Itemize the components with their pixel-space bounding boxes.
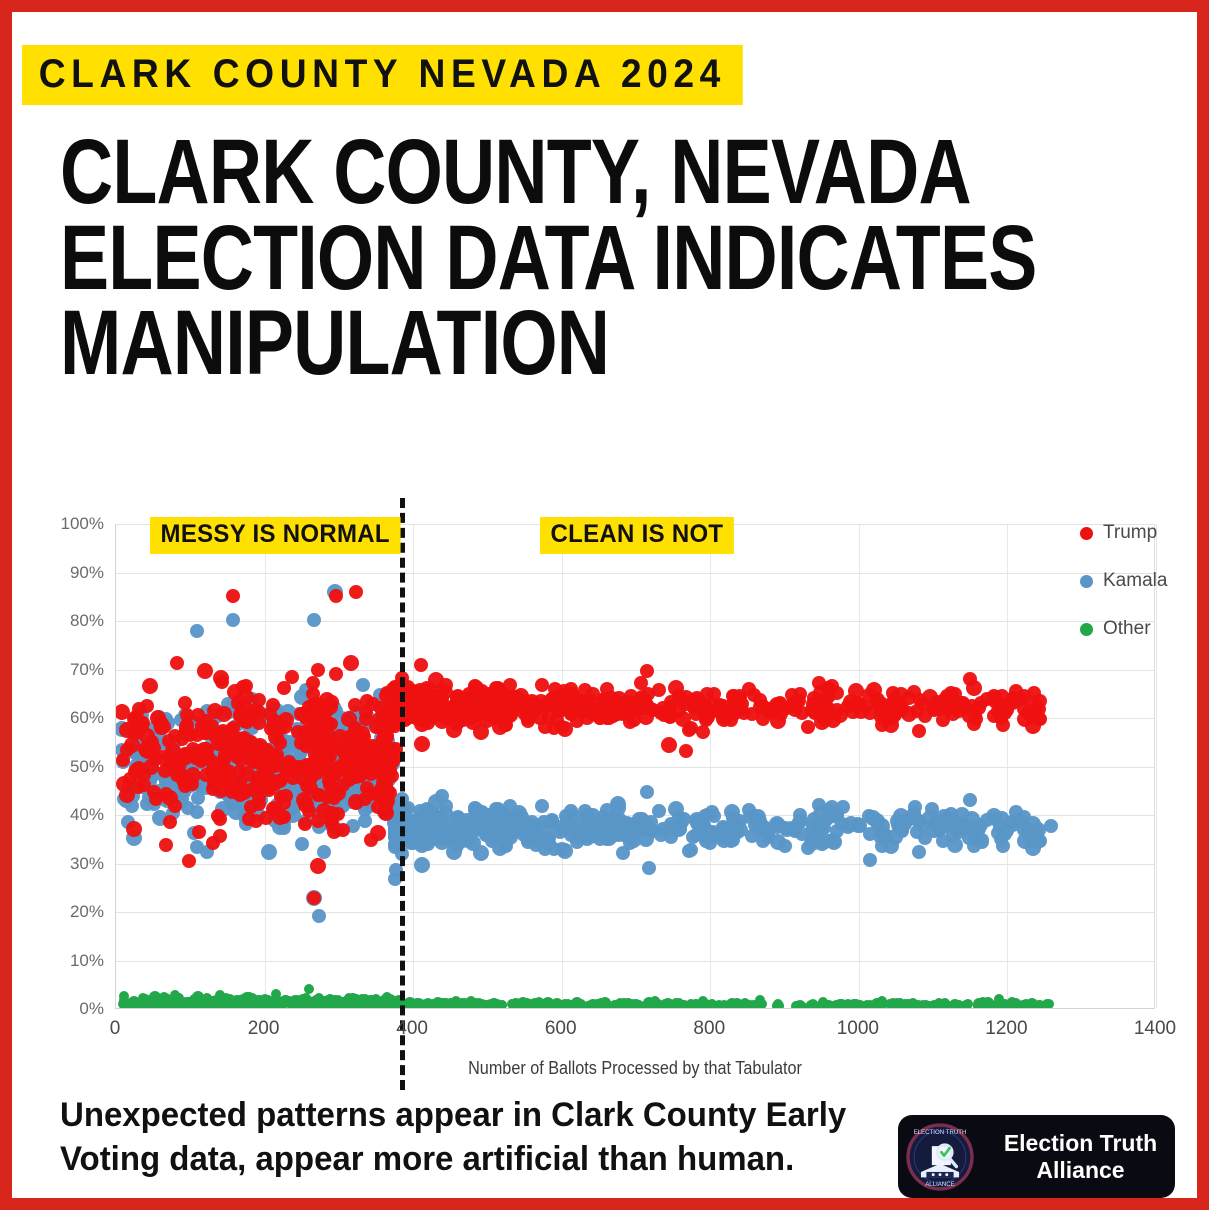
- data-point: [327, 825, 341, 839]
- annotation-messy-is-normal: MESSY IS NORMAL: [150, 517, 400, 554]
- data-point: [460, 691, 474, 705]
- y-axis-tick-50: 50%: [70, 757, 104, 777]
- data-point: [564, 682, 578, 696]
- data-point: [462, 834, 476, 848]
- data-point: [218, 748, 232, 762]
- data-point: [488, 711, 502, 725]
- data-point: [1044, 999, 1054, 1008]
- data-point: [142, 678, 158, 694]
- data-point: [690, 999, 702, 1008]
- data-point: [307, 998, 319, 1008]
- data-point: [871, 998, 883, 1008]
- data-point: [206, 836, 220, 850]
- data-point: [334, 996, 344, 1006]
- data-point: [277, 810, 291, 824]
- data-point: [1035, 1000, 1045, 1008]
- x-axis-title: Number of Ballots Processed by that Tabu…: [167, 1058, 1103, 1079]
- data-point: [154, 998, 164, 1008]
- x-axis-tick-1400: 1400: [1134, 1018, 1176, 1040]
- data-point: [360, 694, 374, 708]
- data-point: [663, 1000, 673, 1008]
- headline-line-2: ELECTION DATA INDICATES: [60, 216, 948, 302]
- data-point: [129, 726, 143, 740]
- data-point: [325, 760, 339, 774]
- data-point: [911, 814, 925, 828]
- data-point: [974, 696, 988, 710]
- data-point: [179, 748, 193, 762]
- plot-area: [115, 524, 1155, 1009]
- y-axis-tick-70: 70%: [70, 660, 104, 680]
- data-point: [424, 829, 440, 845]
- data-point: [988, 691, 1002, 705]
- data-point: [642, 861, 656, 875]
- data-point: [946, 707, 960, 721]
- data-point: [298, 817, 312, 831]
- data-point: [535, 799, 549, 813]
- data-point: [535, 678, 549, 692]
- data-point: [312, 788, 326, 802]
- data-point: [1044, 819, 1058, 833]
- x-axis-tick-600: 600: [545, 1018, 577, 1040]
- data-point: [835, 817, 849, 831]
- data-point: [826, 834, 842, 850]
- data-point: [520, 709, 536, 725]
- data-point: [883, 717, 899, 733]
- data-point: [686, 830, 700, 844]
- y-axis-tick-0: 0%: [79, 999, 104, 1019]
- data-point: [616, 846, 630, 860]
- data-point: [947, 837, 963, 853]
- data-point: [348, 721, 362, 735]
- y-axis-tick-100: 100%: [61, 514, 104, 534]
- data-point: [996, 718, 1010, 732]
- scatter-chart: 0%10%20%30%40%50%60%70%80%90%100% MESSY …: [12, 490, 1197, 1100]
- y-axis-tick-80: 80%: [70, 611, 104, 631]
- data-point: [936, 999, 948, 1008]
- data-point: [661, 737, 677, 753]
- data-point: [307, 891, 321, 905]
- legend-label: Kamala: [1103, 570, 1167, 592]
- data-point: [563, 699, 579, 715]
- data-point: [747, 688, 761, 702]
- data-point: [147, 785, 161, 799]
- data-point: [259, 996, 269, 1006]
- data-point: [235, 733, 251, 749]
- data-point: [1005, 694, 1019, 708]
- data-point: [126, 821, 142, 837]
- chart-legend: TrumpKamalaOther: [1080, 522, 1167, 666]
- data-point: [315, 750, 329, 764]
- data-point: [356, 678, 370, 692]
- data-point: [128, 1003, 138, 1008]
- data-point: [233, 708, 247, 722]
- data-point: [552, 1000, 562, 1008]
- data-point: [564, 804, 578, 818]
- data-point: [530, 1001, 540, 1008]
- data-point: [704, 1000, 716, 1008]
- legend-swatch-other-icon: [1080, 623, 1093, 636]
- data-point: [627, 713, 641, 727]
- data-point: [319, 692, 335, 708]
- data-point: [806, 1000, 816, 1008]
- data-point: [474, 998, 484, 1008]
- headline-line-3: MANIPULATION: [60, 301, 948, 387]
- data-point: [682, 844, 696, 858]
- data-point: [211, 995, 221, 1005]
- x-axis-tick-800: 800: [693, 1018, 725, 1040]
- data-point: [890, 1001, 900, 1008]
- data-point: [646, 703, 660, 717]
- data-point: [871, 697, 885, 711]
- legend-item-other[interactable]: Other: [1080, 618, 1167, 640]
- data-point: [285, 670, 299, 684]
- data-point: [778, 839, 792, 853]
- caption: Unexpected patterns appear in Clark Coun…: [60, 1094, 855, 1181]
- data-point: [215, 675, 229, 689]
- data-point: [682, 723, 696, 737]
- y-axis-tick-20: 20%: [70, 902, 104, 922]
- data-point: [312, 909, 326, 923]
- data-point: [197, 663, 213, 679]
- data-point: [190, 624, 204, 638]
- data-point: [634, 676, 648, 690]
- data-point: [473, 724, 489, 740]
- x-axis-tick-1000: 1000: [837, 1018, 879, 1040]
- data-point: [562, 819, 578, 835]
- logo-text-line-2: Alliance: [986, 1157, 1175, 1183]
- data-point: [132, 702, 146, 716]
- data-point: [390, 1000, 400, 1008]
- caption-line-1: Unexpected patterns appear in Clark Coun…: [60, 1094, 855, 1138]
- data-point: [445, 1001, 455, 1008]
- data-point: [891, 696, 907, 712]
- election-truth-alliance-emblem-icon: ELECTION TRUTH ALLIANCE: [906, 1123, 974, 1191]
- data-point: [159, 838, 173, 852]
- x-axis-tick-400: 400: [396, 1018, 428, 1040]
- data-point: [304, 984, 314, 994]
- data-point: [163, 815, 177, 829]
- data-point: [936, 809, 952, 825]
- data-point: [432, 997, 444, 1008]
- page-title: CLARK COUNTY, NEVADA ELECTION DATA INDIC…: [60, 130, 948, 387]
- data-point: [439, 685, 453, 699]
- data-point: [834, 1000, 844, 1008]
- data-point: [898, 817, 912, 831]
- y-axis-tick-60: 60%: [70, 708, 104, 728]
- data-point: [473, 845, 489, 861]
- x-axis-tick-1200: 1200: [985, 1018, 1027, 1040]
- data-point: [630, 1000, 640, 1008]
- data-point: [772, 1000, 784, 1008]
- data-point: [843, 694, 859, 710]
- data-point: [306, 676, 320, 690]
- logo-text: Election Truth Alliance: [986, 1130, 1175, 1183]
- data-point: [609, 813, 623, 827]
- data-point: [697, 706, 711, 720]
- data-point: [912, 724, 926, 738]
- data-point: [192, 825, 206, 839]
- legend-swatch-kamala-icon: [1080, 575, 1093, 588]
- headline-line-1: CLARK COUNTY, NEVADA: [60, 130, 948, 216]
- data-point: [358, 792, 372, 806]
- data-point: [974, 1000, 986, 1008]
- data-point: [291, 725, 305, 739]
- y-axis-tick-90: 90%: [70, 563, 104, 583]
- data-point: [286, 999, 296, 1008]
- data-point: [170, 656, 184, 670]
- data-point: [1033, 712, 1047, 726]
- data-point: [182, 997, 194, 1008]
- data-point: [414, 857, 430, 873]
- data-point: [232, 999, 242, 1008]
- data-point: [850, 999, 862, 1008]
- data-point: [170, 996, 182, 1008]
- data-point: [668, 680, 684, 696]
- data-point: [414, 658, 428, 672]
- data-point: [707, 687, 721, 701]
- data-point: [904, 999, 916, 1008]
- data-points-layer: [116, 524, 1155, 1008]
- data-point: [352, 758, 366, 772]
- data-point: [726, 833, 740, 847]
- data-point: [213, 812, 227, 826]
- data-point: [182, 854, 196, 868]
- data-point: [295, 837, 309, 851]
- data-point: [679, 744, 693, 758]
- data-point: [329, 589, 343, 603]
- poster-frame: CLARK COUNTY NEVADA 2024 CLARK COUNTY, N…: [12, 12, 1197, 1198]
- data-point: [964, 811, 980, 827]
- data-point: [952, 1002, 962, 1008]
- data-point: [497, 1000, 507, 1008]
- data-point: [439, 711, 453, 725]
- data-point: [652, 683, 666, 697]
- data-point: [991, 1000, 1001, 1008]
- y-axis-tick-40: 40%: [70, 805, 104, 825]
- data-point: [537, 815, 551, 829]
- data-point: [458, 1001, 468, 1008]
- legend-swatch-trump-icon: [1080, 527, 1093, 540]
- data-point: [249, 814, 263, 828]
- data-point: [485, 834, 499, 848]
- legend-item-kamala[interactable]: Kamala: [1080, 570, 1167, 592]
- x-axis-tick-0: 0: [110, 1018, 121, 1040]
- caption-line-2: Voting data, appear more artificial than…: [60, 1138, 855, 1182]
- data-point: [908, 800, 922, 814]
- data-point: [887, 829, 903, 845]
- annotation-clean-is-not: CLEAN IS NOT: [540, 517, 734, 554]
- kicker-banner: CLARK COUNTY NEVADA 2024: [22, 45, 743, 105]
- data-point: [770, 713, 786, 729]
- logo-badge[interactable]: ELECTION TRUTH ALLIANCE Election Truth A…: [898, 1115, 1175, 1198]
- data-point: [996, 839, 1010, 853]
- data-point: [268, 1000, 280, 1008]
- svg-text:ELECTION TRUTH: ELECTION TRUTH: [914, 1128, 967, 1135]
- data-point: [812, 798, 826, 812]
- data-point: [292, 760, 306, 774]
- data-point: [190, 805, 204, 819]
- data-point: [495, 685, 509, 699]
- data-point: [975, 835, 989, 849]
- data-point: [529, 838, 543, 852]
- data-point: [677, 812, 691, 826]
- data-point: [640, 664, 654, 678]
- data-point: [307, 613, 321, 627]
- data-point: [672, 999, 684, 1008]
- legend-label: Trump: [1103, 522, 1157, 544]
- y-axis-tick-30: 30%: [70, 854, 104, 874]
- data-point: [145, 735, 159, 749]
- data-point: [364, 833, 378, 847]
- data-point: [640, 785, 654, 799]
- data-point: [226, 613, 240, 627]
- data-point: [367, 1000, 377, 1008]
- data-point: [435, 789, 449, 803]
- data-point: [597, 826, 611, 840]
- data-point: [912, 845, 926, 859]
- reference-line: [400, 498, 405, 1090]
- logo-text-line-1: Election Truth: [986, 1130, 1175, 1156]
- data-point: [963, 793, 977, 807]
- svg-text:ALLIANCE: ALLIANCE: [925, 1181, 955, 1188]
- y-axis-tick-10: 10%: [70, 951, 104, 971]
- data-point: [801, 720, 815, 734]
- data-point: [414, 736, 430, 752]
- x-axis-tick-200: 200: [248, 1018, 280, 1040]
- data-point: [263, 707, 277, 721]
- data-point: [311, 663, 325, 677]
- data-point: [200, 997, 210, 1007]
- data-point: [675, 694, 689, 708]
- legend-label: Other: [1103, 618, 1151, 640]
- data-point: [410, 1002, 420, 1008]
- data-point: [343, 655, 359, 671]
- data-point: [962, 1000, 972, 1008]
- data-point: [190, 728, 204, 742]
- data-point: [645, 998, 657, 1008]
- data-point: [199, 768, 213, 782]
- data-point: [159, 787, 173, 801]
- data-point: [226, 589, 240, 603]
- data-point: [863, 853, 877, 867]
- data-point: [453, 812, 467, 826]
- data-point: [615, 999, 625, 1008]
- data-point: [727, 693, 741, 707]
- data-point: [252, 797, 266, 811]
- data-point: [332, 729, 348, 745]
- data-point: [329, 667, 343, 681]
- data-point: [264, 759, 278, 773]
- data-point: [349, 585, 363, 599]
- data-point: [1025, 695, 1041, 711]
- data-point: [736, 1000, 748, 1008]
- data-point: [926, 701, 942, 717]
- data-point: [757, 999, 767, 1008]
- data-point: [794, 1000, 806, 1008]
- legend-item-trump[interactable]: Trump: [1080, 522, 1167, 544]
- data-point: [323, 995, 333, 1005]
- data-point: [261, 844, 277, 860]
- data-point: [756, 712, 770, 726]
- data-point: [1005, 815, 1019, 829]
- data-point: [310, 858, 326, 874]
- data-point: [317, 845, 331, 859]
